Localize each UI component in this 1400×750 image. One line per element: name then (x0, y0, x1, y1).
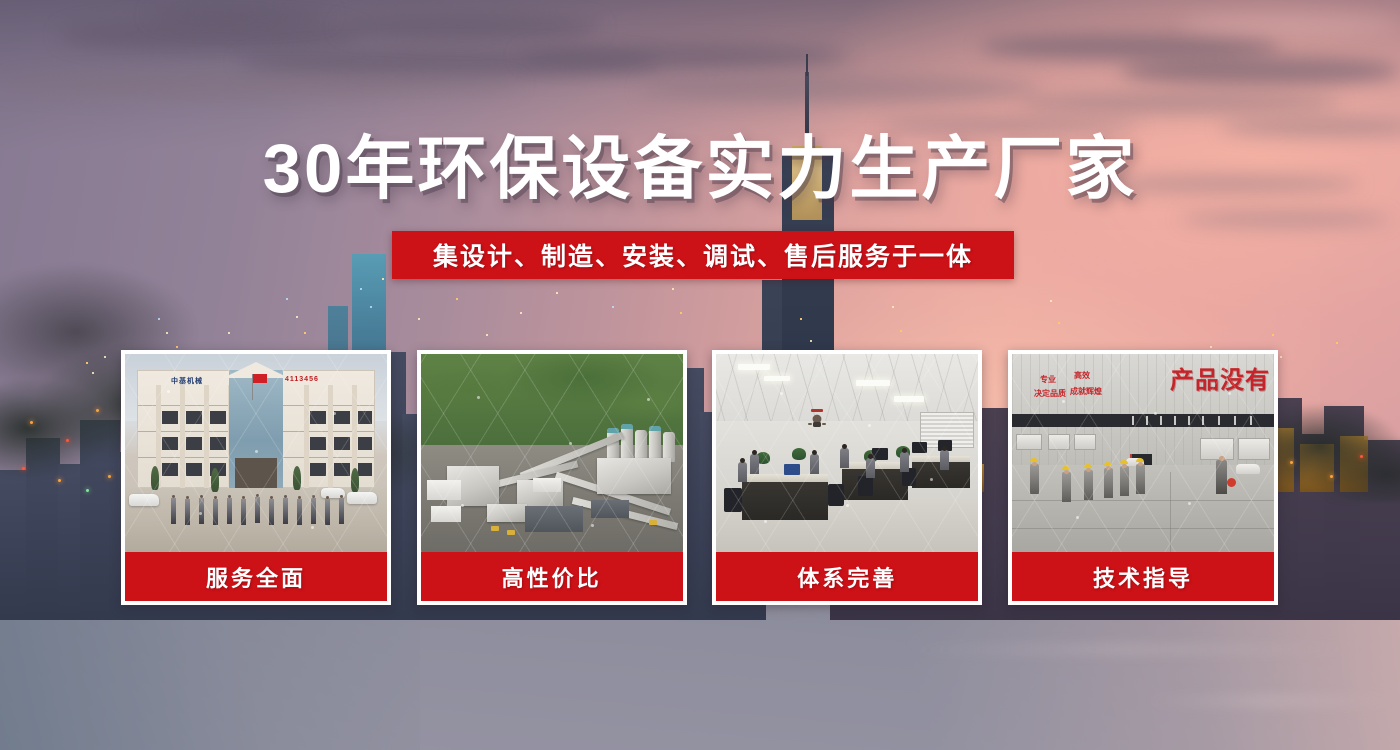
card-photo-office (716, 354, 978, 552)
wall-logo-graphic (804, 408, 830, 428)
factory-window (1074, 434, 1096, 450)
banner-headline: 30年环保设备实力生产厂家 (0, 132, 1400, 206)
window-light (304, 332, 306, 334)
feature-card-training[interactable]: 产品没有 专业 高效 决定品质 成就辉煌 (1008, 350, 1278, 605)
city-light (22, 467, 25, 470)
feature-card-row: 中基机械 4113456 (121, 350, 1278, 605)
card-photo-headquarters: 中基机械 4113456 (125, 354, 387, 552)
worker (1136, 464, 1145, 494)
banner-subtitle-bar: 集设计、制造、安装、调试、售后服务于一体 (392, 231, 1014, 279)
window-light (1050, 300, 1052, 302)
city-light (1330, 475, 1333, 478)
staff-person (866, 458, 875, 478)
worker (1084, 470, 1093, 500)
window-row (358, 463, 372, 476)
watermark-node (1076, 516, 1079, 519)
national-flag (253, 374, 267, 383)
pillar (304, 385, 309, 489)
staff-person (283, 498, 288, 524)
staff-head (256, 494, 259, 497)
city-light (1290, 461, 1293, 464)
window-light (486, 334, 488, 336)
excavator (507, 530, 515, 535)
staff-head (228, 495, 231, 498)
window-light (176, 346, 178, 348)
band-mark (1132, 416, 1134, 425)
site-office (431, 506, 461, 522)
staff-person (171, 498, 176, 524)
window-row (310, 463, 326, 476)
wall-logo (804, 408, 830, 428)
staff-person (213, 499, 218, 525)
window-light (296, 316, 298, 318)
window-row (210, 437, 226, 450)
card-photo-plant-aerial (421, 354, 683, 552)
staff-person (900, 452, 909, 472)
company-phone-sign: 4113456 (285, 376, 319, 383)
worker (1062, 472, 1071, 502)
worker (1030, 464, 1039, 494)
window-light (360, 288, 362, 290)
worker-face (1064, 470, 1069, 474)
ceiling-light (764, 376, 790, 381)
pillar (180, 385, 185, 489)
window-light (86, 362, 88, 364)
window-row (334, 411, 350, 424)
building-entrance (235, 458, 277, 488)
window-light (680, 312, 682, 314)
tree (151, 466, 159, 490)
window-light (418, 318, 420, 320)
office-chair (828, 484, 844, 506)
site-office (427, 480, 461, 500)
potted-plant (792, 448, 806, 460)
pillar (328, 385, 333, 489)
factory-slogan-small: 高效 (1074, 370, 1090, 381)
window-row (162, 437, 178, 450)
loading-shed (525, 506, 583, 532)
band-mark (1188, 416, 1190, 425)
city-light (58, 479, 61, 482)
watermark-node (569, 442, 572, 445)
staff-head (312, 495, 315, 498)
worker-face (1086, 468, 1091, 472)
watermark-node (333, 412, 336, 415)
excavator (649, 520, 657, 525)
watermark-node (255, 450, 258, 453)
staff-head (326, 496, 329, 499)
window-row (358, 411, 372, 424)
window-light (92, 372, 94, 374)
company-name-sign: 中基机械 (171, 376, 203, 386)
plant-structure (487, 504, 527, 522)
window-light (800, 318, 802, 320)
photo-scene (421, 354, 683, 552)
watermark-node (199, 512, 202, 515)
window-row (358, 437, 372, 450)
window-light (892, 306, 894, 308)
watermark-node (1228, 392, 1231, 395)
window-light (672, 288, 674, 290)
staff-person (311, 498, 316, 524)
staff-head (186, 496, 189, 499)
watermark-node (647, 398, 650, 401)
staff-person (325, 499, 330, 525)
ceiling-light (738, 364, 770, 370)
window-row (162, 411, 178, 424)
window-row (186, 437, 202, 450)
card-caption-bar: 高性价比 (421, 552, 683, 601)
window-light (228, 332, 230, 334)
window-row (210, 411, 226, 424)
window-light (556, 292, 558, 294)
band-mark (1174, 416, 1176, 425)
staff-person (269, 499, 274, 525)
window-light (1210, 346, 1212, 348)
staff-person (940, 450, 949, 470)
laptop (784, 464, 800, 475)
pavement-seam (1012, 500, 1274, 501)
window-light (456, 298, 458, 300)
staff-head (340, 495, 343, 498)
desk (842, 466, 908, 500)
watermark-node (461, 504, 464, 507)
window-row (162, 463, 178, 476)
city-light (108, 475, 111, 478)
parked-car (129, 494, 159, 506)
pavement-seam (1170, 472, 1171, 552)
band-mark (1234, 416, 1236, 425)
band-mark (1146, 416, 1148, 425)
staff-person (738, 462, 747, 482)
window-light (1058, 322, 1060, 324)
band-mark (1250, 416, 1252, 425)
staff-head (172, 495, 175, 498)
photo-scene (716, 354, 978, 552)
ceiling-light (856, 380, 890, 386)
watermark-node (1154, 412, 1157, 415)
loading-shed (591, 500, 629, 518)
window-light (104, 356, 106, 358)
watermark-node (167, 390, 170, 393)
staff-person (185, 499, 190, 525)
window-light (810, 340, 812, 342)
staff-person (227, 498, 232, 524)
window-row (310, 411, 326, 424)
wall-dark-band (1012, 414, 1274, 427)
factory-window (1200, 438, 1234, 460)
band-mark (1218, 416, 1220, 425)
window-light (1336, 342, 1338, 344)
staff-head (242, 496, 245, 499)
excavator (491, 526, 499, 531)
parked-car (1236, 464, 1260, 474)
factory-window (1016, 434, 1042, 450)
desk-surface (742, 474, 828, 482)
city-light (66, 439, 69, 442)
photo-scene: 中基机械 4113456 (125, 354, 387, 552)
window-light (382, 278, 384, 280)
card-caption-text: 技术指导 (1093, 561, 1193, 593)
office-chair (724, 488, 742, 512)
window-light (1272, 334, 1274, 336)
watermark-node (1062, 400, 1065, 403)
desk-surface (842, 462, 908, 469)
city-light (96, 409, 99, 412)
watermark-node (1188, 502, 1191, 505)
factory-slogan-small: 专业 (1040, 374, 1056, 385)
window-light (612, 306, 614, 308)
watermark-node (311, 526, 314, 529)
photo-scene: 产品没有 专业 高效 决定品质 成就辉煌 (1012, 354, 1274, 552)
ceiling-light (894, 396, 924, 402)
card-caption-bar: 服务全面 (125, 552, 387, 601)
window-light (370, 306, 372, 308)
plant-structure (597, 458, 671, 494)
card-caption-text: 体系完善 (797, 561, 897, 593)
window-row (334, 463, 350, 476)
worker-face (1106, 466, 1111, 470)
window-row (186, 411, 202, 424)
card-caption-bar: 体系完善 (716, 552, 978, 601)
instructor (1216, 460, 1227, 494)
tower-antenna (806, 54, 808, 76)
worker (1104, 468, 1113, 498)
window-row (310, 437, 326, 450)
factory-window (1238, 438, 1270, 460)
pavement-seam (1012, 528, 1274, 529)
factory-slogan-small: 决定品质 (1034, 388, 1066, 399)
window-light (900, 330, 902, 332)
water-streak (1140, 696, 1400, 706)
tree (293, 466, 301, 490)
site-office (533, 478, 561, 492)
band-mark (1160, 416, 1162, 425)
monitor (912, 442, 927, 453)
window-row (186, 463, 202, 476)
staff-head (214, 496, 217, 499)
monitor (872, 448, 888, 460)
water-streak (900, 645, 1360, 654)
tree (351, 468, 359, 492)
feature-card-system[interactable]: 体系完善 (712, 350, 982, 605)
worker-face (1032, 462, 1037, 466)
factory-slogan-small: 成就辉煌 (1070, 386, 1102, 397)
staff-person (339, 498, 344, 524)
staff-person (241, 499, 246, 525)
factory-window (1048, 434, 1070, 450)
pillar (204, 385, 209, 489)
staff-head (200, 495, 203, 498)
worker-face (1122, 464, 1127, 468)
staff-head (284, 495, 287, 498)
window-light (520, 312, 522, 314)
staff-head (270, 496, 273, 499)
red-helmet (1227, 478, 1236, 487)
promo-banner: 30年环保设备实力生产厂家 集设计、制造、安装、调试、售后服务于一体 (0, 0, 1400, 750)
card-caption-text: 高性价比 (502, 561, 602, 593)
window-light (286, 298, 288, 300)
storage-silo (649, 426, 661, 462)
staff-person (750, 454, 759, 474)
window-light (1280, 356, 1282, 358)
watermark-node (591, 524, 594, 527)
desk (742, 478, 828, 520)
window-row (334, 437, 350, 450)
instructor-face (1219, 456, 1225, 461)
window-light (158, 318, 160, 320)
window-light (166, 332, 168, 334)
city-light (86, 489, 89, 492)
office-chair (858, 476, 873, 496)
staff-person (199, 498, 204, 524)
tree (211, 468, 219, 492)
city-light (1360, 455, 1363, 458)
staff-person (297, 499, 302, 525)
card-caption-text: 服务全面 (206, 561, 306, 593)
staff-person (255, 497, 260, 523)
card-caption-bar: 技术指导 (1012, 552, 1274, 601)
staff-person (840, 448, 849, 468)
feature-card-service[interactable]: 中基机械 4113456 (121, 350, 391, 605)
worker-face (1138, 462, 1143, 466)
feature-card-value[interactable]: 高性价比 (417, 350, 687, 605)
parked-car (347, 492, 377, 504)
staff-person (810, 454, 819, 474)
staff-head (298, 496, 301, 499)
card-photo-factory-yard: 产品没有 专业 高效 决定品质 成就辉煌 (1012, 354, 1274, 552)
storage-silo (621, 424, 633, 462)
band-mark (1202, 416, 1204, 425)
factory-slogan-large: 产品没有 (1170, 360, 1270, 395)
watermark-node (477, 396, 480, 399)
banner-subtitle-text: 集设计、制造、安装、调试、售后服务于一体 (433, 237, 973, 273)
worker (1120, 466, 1129, 496)
city-light (30, 421, 33, 424)
